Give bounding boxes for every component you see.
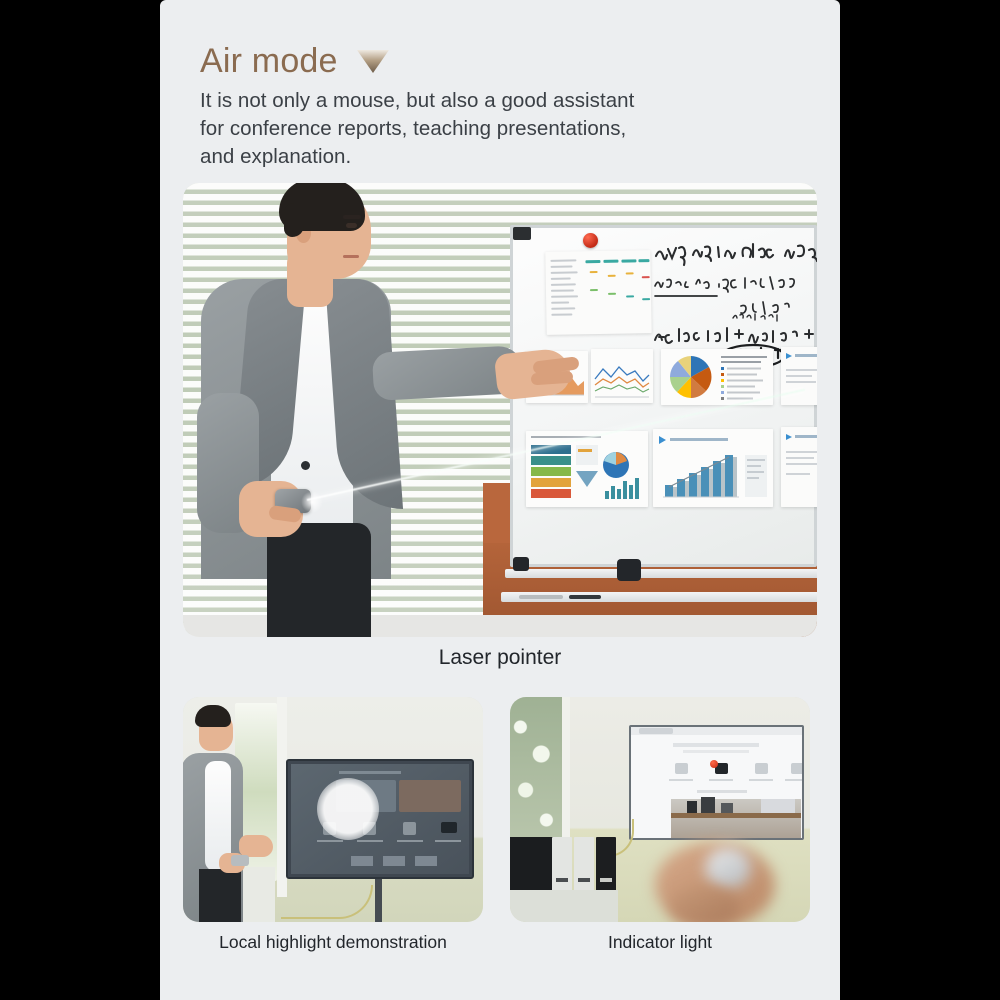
man-eye [346,223,357,228]
whiteboard-marker-2 [569,595,601,599]
binder-label-1 [556,878,568,882]
desk-object-2 [701,797,715,813]
hero-caption: Laser pointer [160,646,840,670]
screen-card-2 [399,780,461,812]
feature-label-2 [709,779,733,781]
thumb-right-scene [510,697,810,922]
chart-sheet-infographic [526,431,648,507]
blurred-thumb [670,887,740,922]
window-foliage [510,697,562,847]
feature-label-4 [785,779,804,781]
hero-image[interactable] [183,183,817,637]
thumb-man-trousers [199,869,241,922]
screen-label-4 [435,840,461,842]
thumb-presenter-device [231,855,249,866]
feature-icon-4 [791,763,804,774]
chart-sheet-slide-right-2 [781,427,817,507]
tv-monitor-right [629,725,804,840]
header: Air mode It is not only a mouse, but als… [200,44,800,171]
desk-object-3 [721,803,733,813]
feature-icon-3 [755,763,768,774]
thumbnail-caption-right: Indicator light [510,932,810,953]
feature-icon-1 [675,763,688,774]
page-title: Air mode [200,44,338,78]
chart-sheet-bar [653,429,773,507]
screen-icon-3 [403,822,416,835]
screen-footer-1 [351,856,373,866]
whiteboard-tray [505,569,817,578]
man-sideburn [284,203,304,237]
thumbnail-indicator-light[interactable] [510,697,810,922]
title-row: Air mode [200,44,800,78]
man-mouth [343,255,359,258]
desk-object-1 [687,801,697,813]
pie-chart [661,349,773,405]
thumbnail-local-highlight[interactable] [183,697,483,922]
triangle-down-icon[interactable] [356,48,390,74]
feature-label-1 [669,779,693,781]
screen-icon-4 [441,822,457,833]
screen-header-bar [339,771,401,774]
blurred-device-in-hand [705,847,751,889]
tv-stand-pole [375,879,382,922]
browser-tab [639,728,673,734]
whiteboard-marker-1 [519,595,563,599]
indicator-led [710,760,718,768]
chart-sheet-line [591,349,653,403]
thumb-man-hand-gesture [239,835,273,857]
highlight-spotlight [317,778,379,840]
tv-screen [291,764,469,874]
screen-label-1 [317,840,343,842]
binder-label-2 [578,878,590,882]
site-hero-bar-2 [683,750,749,753]
man-eyebrow [343,215,361,219]
thumbnail-caption-left: Local highlight demonstration [183,932,483,953]
screen-label-2 [357,840,383,842]
monitor-in-photo [761,799,795,813]
thumb-left-scene [183,697,483,922]
man-button [301,461,310,470]
content-panel: Air mode It is not only a mouse, but als… [160,0,840,1000]
pinned-document [545,250,651,335]
hero-scene [183,183,817,637]
man-trousers [267,523,371,637]
page-subtitle: It is not only a mouse, but also a good … [200,87,800,171]
tray-bracket-left [513,557,529,571]
chart-sheet-slide-right [781,347,817,405]
thumb-man-hair [195,705,231,727]
whiteboard-top-clip [513,227,531,240]
site-hero-bar [673,743,759,747]
screenshot-root: Air mode It is not only a mouse, but als… [0,0,1000,1000]
tv-monitor [286,759,474,879]
site-section-title [697,790,747,793]
tray-bracket [617,559,641,581]
screen-footer-2 [383,856,405,866]
red-pin [583,233,598,248]
laser-glow [301,491,323,513]
feature-label-3 [749,779,773,781]
screen-label-3 [397,840,423,842]
chart-sheet-pie [661,349,773,405]
window-frame-right [562,697,570,857]
desk-surface [671,813,801,818]
screen-footer-3 [415,856,437,866]
shelf-base [510,890,618,922]
binder-label-3 [600,878,612,882]
